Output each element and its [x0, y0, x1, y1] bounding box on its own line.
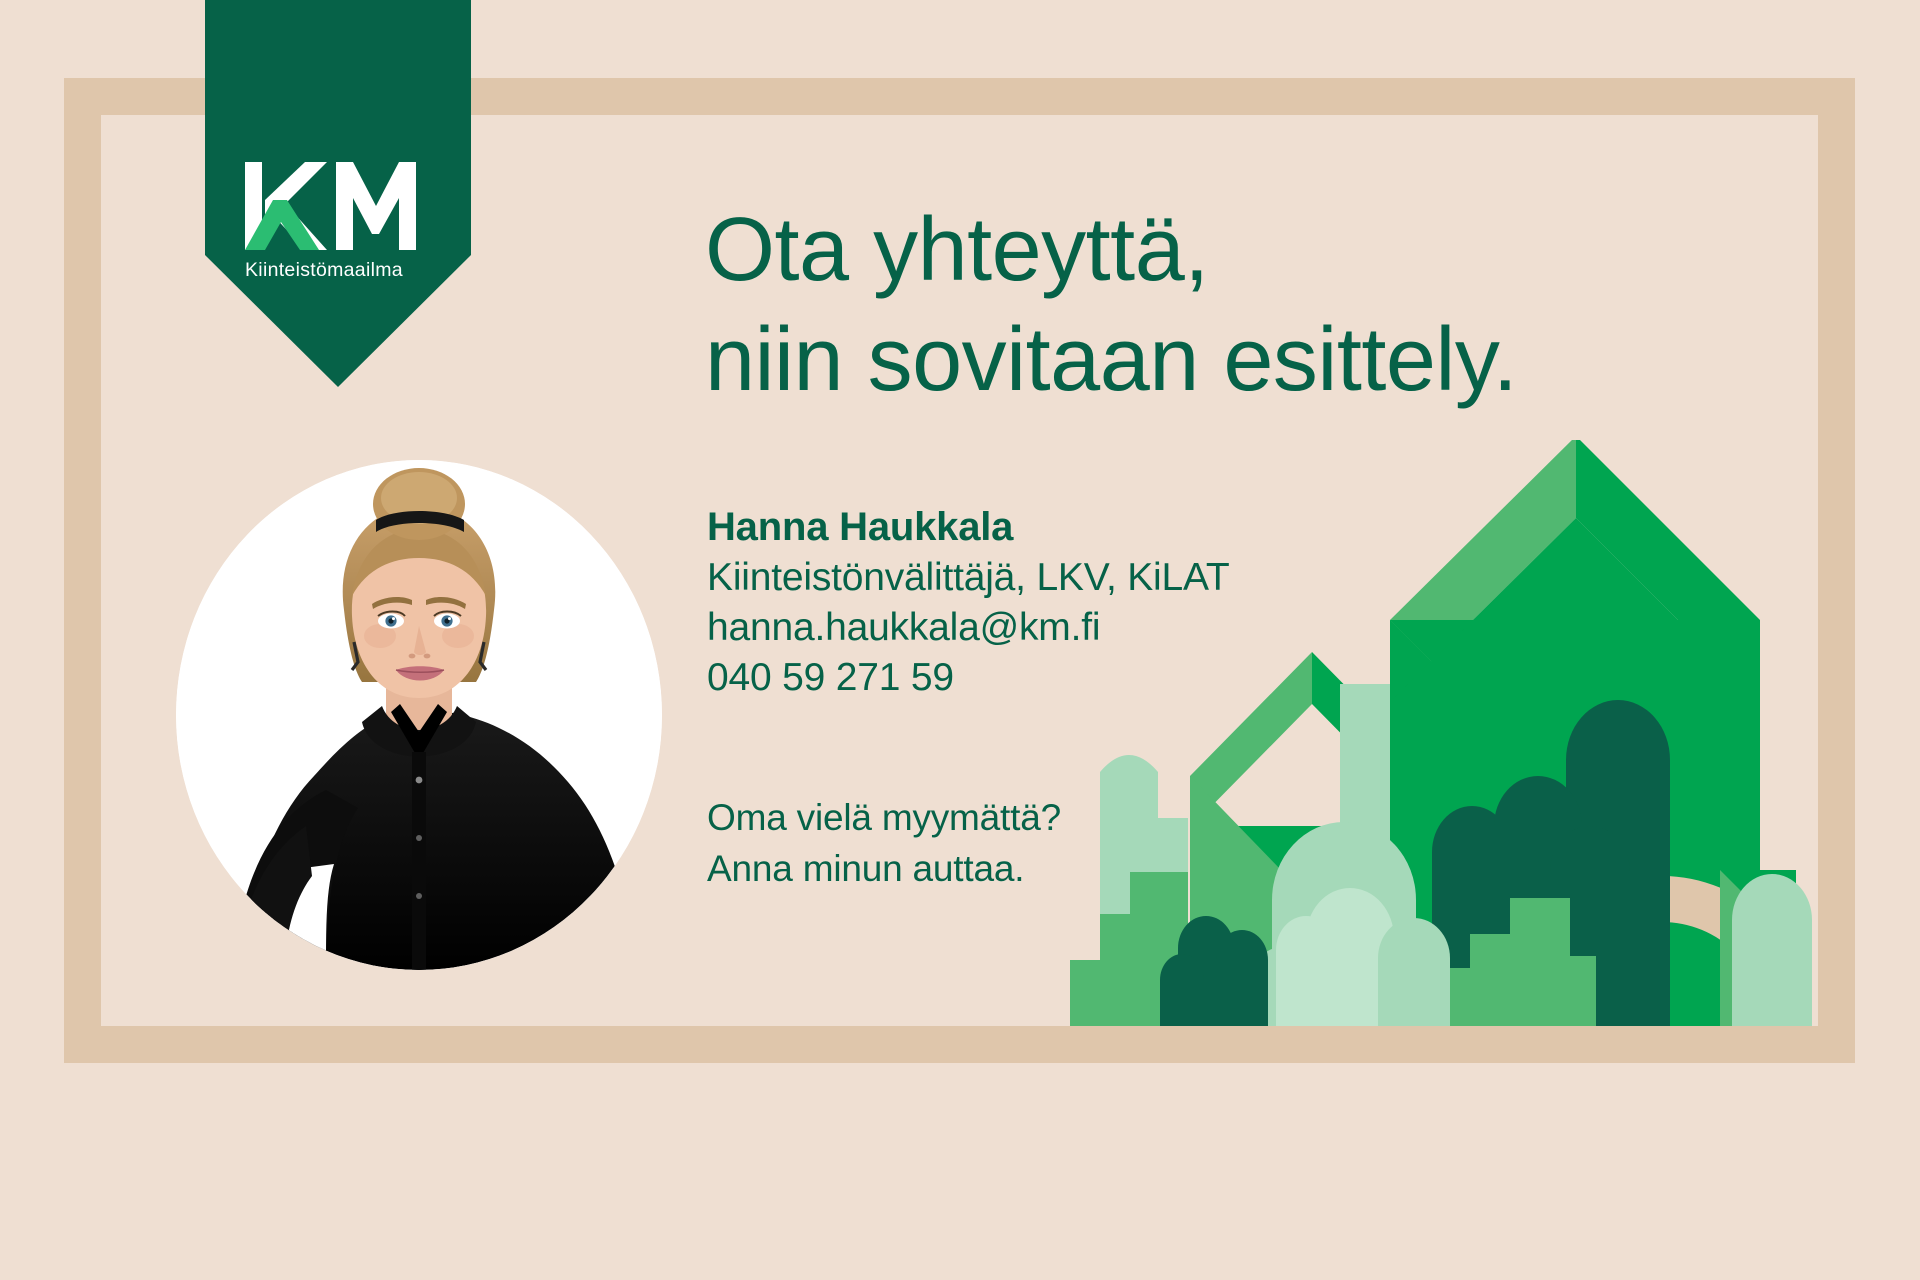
- logo-wordmark-text: Kiinteistömaailma: [245, 259, 403, 281]
- green-houses-and-bushes-illustration: [1060, 440, 1856, 1026]
- headline-line-1: Ota yhteyttä,: [705, 196, 1785, 306]
- headline-line-2: niin sovitaan esittely.: [705, 306, 1785, 416]
- agent-portrait: [176, 460, 662, 970]
- km-logo: Kiinteistömaailma: [243, 160, 433, 285]
- poster-canvas: Kiinteistömaailma: [0, 0, 1920, 1280]
- headline: Ota yhteyttä, niin sovitaan esittely.: [705, 196, 1785, 416]
